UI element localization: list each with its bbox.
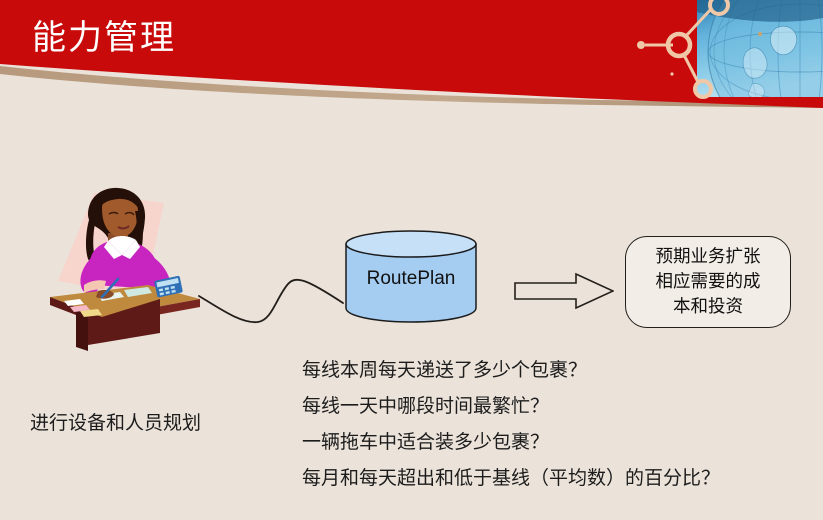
clipart-caption: 进行设备和人员规划 — [30, 408, 201, 435]
list-item: 一辆拖车中适合装多少包裹？ — [302, 424, 802, 460]
result-box: 预期业务扩张相应需要的成本和投资 — [625, 236, 791, 328]
database-label: RoutePlan — [344, 268, 478, 290]
block-arrow-right-icon — [514, 272, 614, 310]
result-box-text: 预期业务扩张相应需要的成本和投资 — [650, 245, 767, 320]
globe-network-icon — [697, 0, 823, 110]
slide-canvas: 能力管理 — [0, 0, 823, 520]
slide-header: 能力管理 — [0, 0, 823, 110]
list-item: 每线本周每天递送了多少个包裹？ — [302, 352, 802, 388]
person-at-desk-icon — [36, 185, 206, 355]
question-list: 每线本周每天递送了多少个包裹？ 每线一天中哪段时间最繁忙？ 一辆拖车中适合装多少… — [302, 352, 802, 496]
list-item: 每月和每天超出和低于基线（平均数）的百分比？ — [302, 460, 802, 496]
curve-connector-icon — [196, 258, 346, 338]
list-item: 每线一天中哪段时间最繁忙？ — [302, 388, 802, 424]
page-title: 能力管理 — [32, 16, 176, 60]
